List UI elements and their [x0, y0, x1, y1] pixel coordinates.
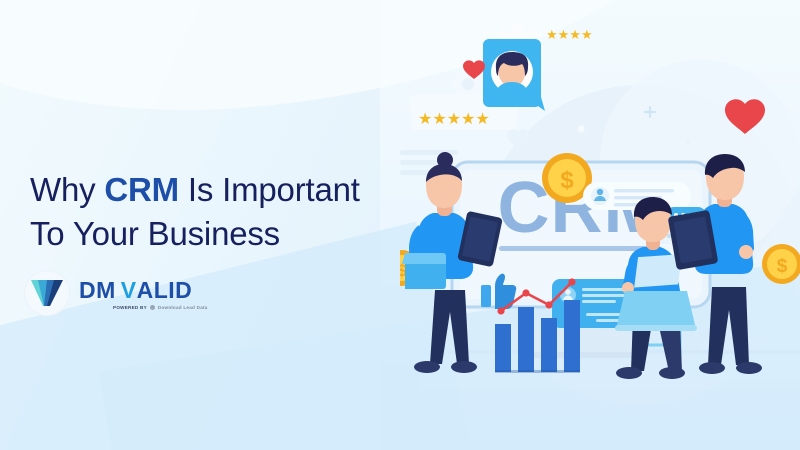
- avatar-card: ★★★★: [483, 27, 593, 111]
- logo-tagline: POWERED BY Download Lead Data: [113, 305, 208, 310]
- crm-illustration: CRM ★★★★★: [400, 0, 800, 450]
- shoe: [699, 362, 725, 374]
- shoe: [451, 361, 477, 373]
- logo-v-text: V: [121, 277, 137, 304]
- globe-icon: [150, 305, 155, 310]
- dot-decoration: [578, 126, 585, 133]
- logo-powered-brand-text: Download Lead Data: [158, 305, 208, 310]
- headline-keyword: CRM: [104, 171, 179, 208]
- dot-decoration: [685, 139, 690, 144]
- shoe: [659, 367, 685, 379]
- page-title: Why CRM Is Important To Your Business: [30, 168, 430, 256]
- star-icon: ★★★★★: [418, 111, 490, 128]
- shoe: [414, 361, 440, 373]
- svg-text:★★★★: ★★★★: [546, 27, 593, 42]
- headline-part-1: Why: [30, 171, 104, 208]
- logo-alid-text: ALID: [137, 277, 193, 304]
- svg-text:$: $: [560, 167, 574, 194]
- plus-sparkle: [645, 107, 655, 117]
- logo-wordmark: DM V ALID: [79, 277, 208, 304]
- svg-text:$: $: [777, 256, 788, 277]
- coin-dollar: $: [762, 244, 800, 284]
- shoe: [616, 367, 642, 379]
- star-icon: ★★★★: [546, 27, 593, 42]
- svg-text:★★★★★: ★★★★★: [418, 111, 490, 128]
- heart-icon: [507, 129, 529, 148]
- brand-logo[interactable]: DM V ALID POWERED BY Download Lead Data: [24, 270, 208, 316]
- logo-text-block: DM V ALID POWERED BY Download Lead Data: [79, 277, 208, 310]
- heart-icon: [725, 99, 765, 134]
- headline-line-2: To Your Business: [30, 215, 280, 252]
- logo-powered-by-text: POWERED BY: [113, 305, 147, 310]
- banner-root: Why CRM Is Important To Your Business DM…: [0, 0, 800, 450]
- headline-part-2: Is Important: [179, 171, 360, 208]
- logo-dm-text: DM: [79, 277, 116, 304]
- v-badge-icon: [24, 270, 70, 316]
- shoe: [736, 362, 762, 374]
